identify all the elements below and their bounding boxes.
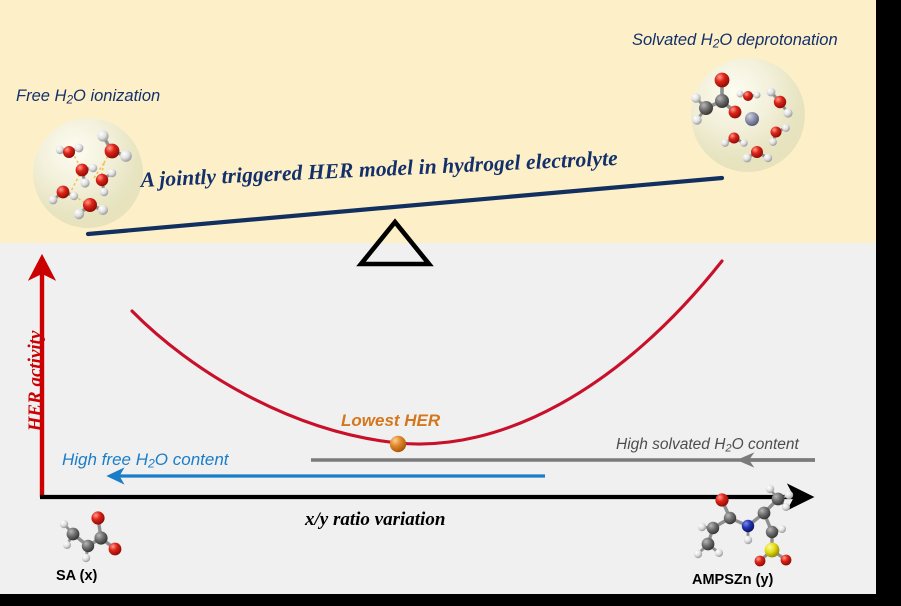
free-ionization-label: Free H2O ionization bbox=[16, 87, 160, 107]
high-solvated-water-label: High solvated H2O content bbox=[616, 436, 799, 454]
y-axis-label: HER activity bbox=[25, 321, 47, 441]
lowest-her-label: Lowest HER bbox=[341, 411, 440, 431]
x-axis-label: x/y ratio variation bbox=[305, 509, 445, 531]
sa-molecule-label: SA (x) bbox=[56, 568, 97, 584]
high-free-water-label: High free H2O content bbox=[62, 450, 229, 471]
figure-canvas: Free H2O ionization Solvated H2O deproto… bbox=[0, 0, 901, 606]
solvated-deprotonation-label: Solvated H2O deprotonation bbox=[632, 31, 838, 51]
ampszn-molecule-label: AMPSZn (y) bbox=[692, 572, 773, 588]
